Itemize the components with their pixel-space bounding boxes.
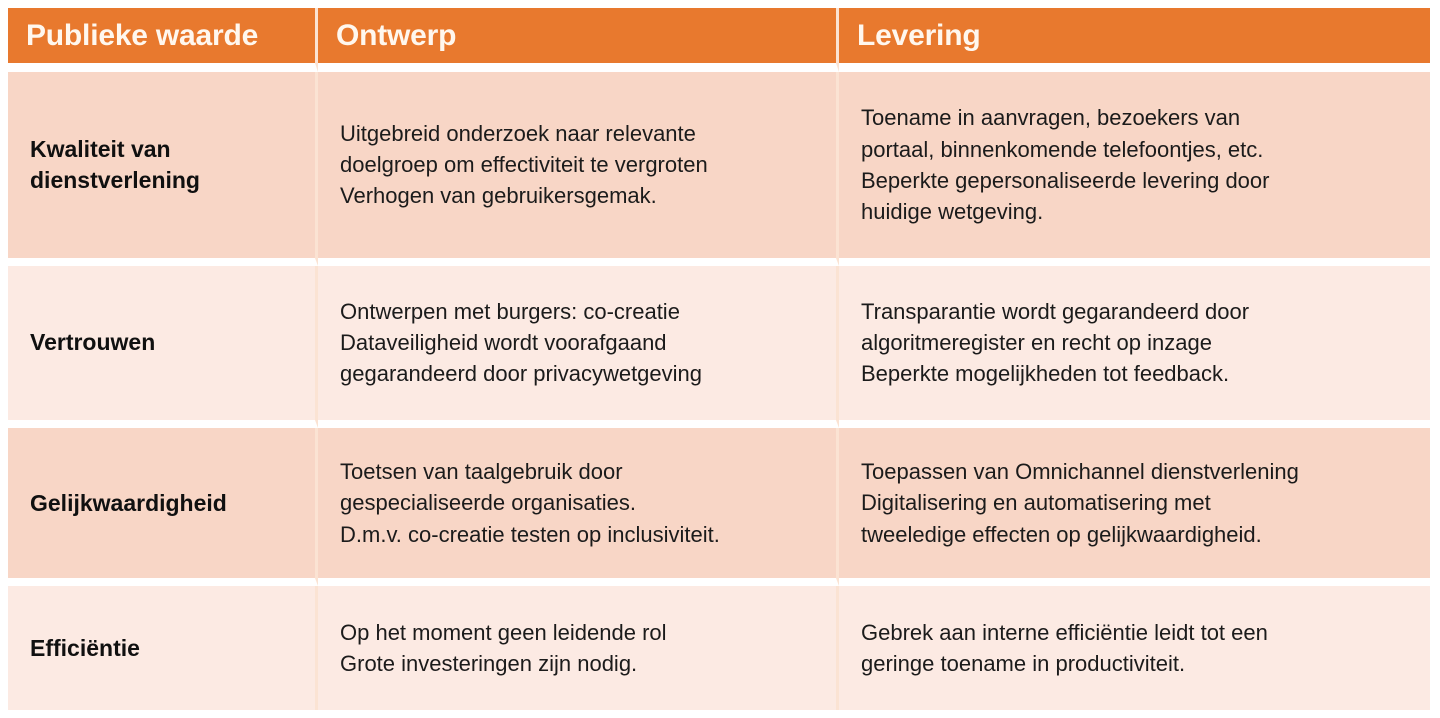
cell-line: geringe toename in productiviteit.: [861, 648, 1414, 679]
cell-line: algoritmeregister en recht op inzage: [861, 327, 1414, 358]
row-label-line: Efficiëntie: [30, 635, 140, 661]
public-value-table-container: Publieke waarde Ontwerp Levering Kwalite…: [0, 0, 1440, 718]
table-header-row: Publieke waarde Ontwerp Levering: [8, 8, 1430, 72]
table-row: Vertrouwen Ontwerpen met burgers: co-cre…: [8, 266, 1430, 428]
row-label-vertrouwen: Vertrouwen: [8, 266, 318, 428]
cell-line: tweeledige effecten op gelijkwaardigheid…: [861, 519, 1414, 550]
cell-line: doelgroep om effectiviteit te vergroten: [340, 149, 820, 180]
cell-ontwerp-row1: Uitgebreid onderzoek naar relevante doel…: [318, 72, 839, 266]
cell-levering-row2: Transparantie wordt gegarandeerd door al…: [839, 266, 1430, 428]
row-label-line: dienstverlening: [30, 167, 200, 193]
cell-levering-row3: Toepassen van Omnichannel dienstverlenin…: [839, 428, 1430, 586]
table-row: Efficiëntie Op het moment geen leidende …: [8, 586, 1430, 710]
cell-line: Beperkte gepersonaliseerde levering door: [861, 165, 1414, 196]
column-header-publieke-waarde: Publieke waarde: [8, 8, 318, 72]
row-label-gelijkwaardigheid: Gelijkwaardigheid: [8, 428, 318, 586]
cell-ontwerp-row4: Op het moment geen leidende rol Grote in…: [318, 586, 839, 710]
table-row: Gelijkwaardigheid Toetsen van taalgebrui…: [8, 428, 1430, 586]
row-label-line: Vertrouwen: [30, 329, 155, 355]
cell-line: gegarandeerd door privacywetgeving: [340, 358, 820, 389]
cell-ontwerp-row2: Ontwerpen met burgers: co-creatie Datave…: [318, 266, 839, 428]
cell-line: Transparantie wordt gegarandeerd door: [861, 296, 1414, 327]
cell-line: Op het moment geen leidende rol: [340, 617, 820, 648]
cell-line: portaal, binnenkomende telefoontjes, etc…: [861, 134, 1414, 165]
cell-line: Uitgebreid onderzoek naar relevante: [340, 118, 820, 149]
cell-line: gespecialiseerde organisaties.: [340, 487, 820, 518]
cell-line: Dataveiligheid wordt voorafgaand: [340, 327, 820, 358]
cell-line: Beperkte mogelijkheden tot feedback.: [861, 358, 1414, 389]
column-header-ontwerp: Ontwerp: [318, 8, 839, 72]
cell-line: Toename in aanvragen, bezoekers van: [861, 102, 1414, 133]
table-header: Publieke waarde Ontwerp Levering: [8, 8, 1430, 72]
row-label-efficientie: Efficiëntie: [8, 586, 318, 710]
cell-line: Ontwerpen met burgers: co-creatie: [340, 296, 820, 327]
cell-line: D.m.v. co-creatie testen op inclusivitei…: [340, 519, 820, 550]
table-row: Kwaliteit van dienstverlening Uitgebreid…: [8, 72, 1430, 266]
cell-line: Digitalisering en automatisering met: [861, 487, 1414, 518]
cell-line: Verhogen van gebruikersgemak.: [340, 180, 820, 211]
public-value-table: Publieke waarde Ontwerp Levering Kwalite…: [8, 8, 1430, 710]
row-label-kwaliteit-van-dienstverlening: Kwaliteit van dienstverlening: [8, 72, 318, 266]
cell-line: Gebrek aan interne efficiëntie leidt tot…: [861, 617, 1414, 648]
column-header-levering: Levering: [839, 8, 1430, 72]
cell-line: Grote investeringen zijn nodig.: [340, 648, 820, 679]
cell-line: Toepassen van Omnichannel dienstverlenin…: [861, 456, 1414, 487]
cell-levering-row1: Toename in aanvragen, bezoekers van port…: [839, 72, 1430, 266]
cell-line: Toetsen van taalgebruik door: [340, 456, 820, 487]
table-body: Kwaliteit van dienstverlening Uitgebreid…: [8, 72, 1430, 710]
row-label-line: Kwaliteit van: [30, 136, 171, 162]
cell-ontwerp-row3: Toetsen van taalgebruik door gespecialis…: [318, 428, 839, 586]
cell-levering-row4: Gebrek aan interne efficiëntie leidt tot…: [839, 586, 1430, 710]
cell-line: huidige wetgeving.: [861, 196, 1414, 227]
row-label-line: Gelijkwaardigheid: [30, 490, 227, 516]
